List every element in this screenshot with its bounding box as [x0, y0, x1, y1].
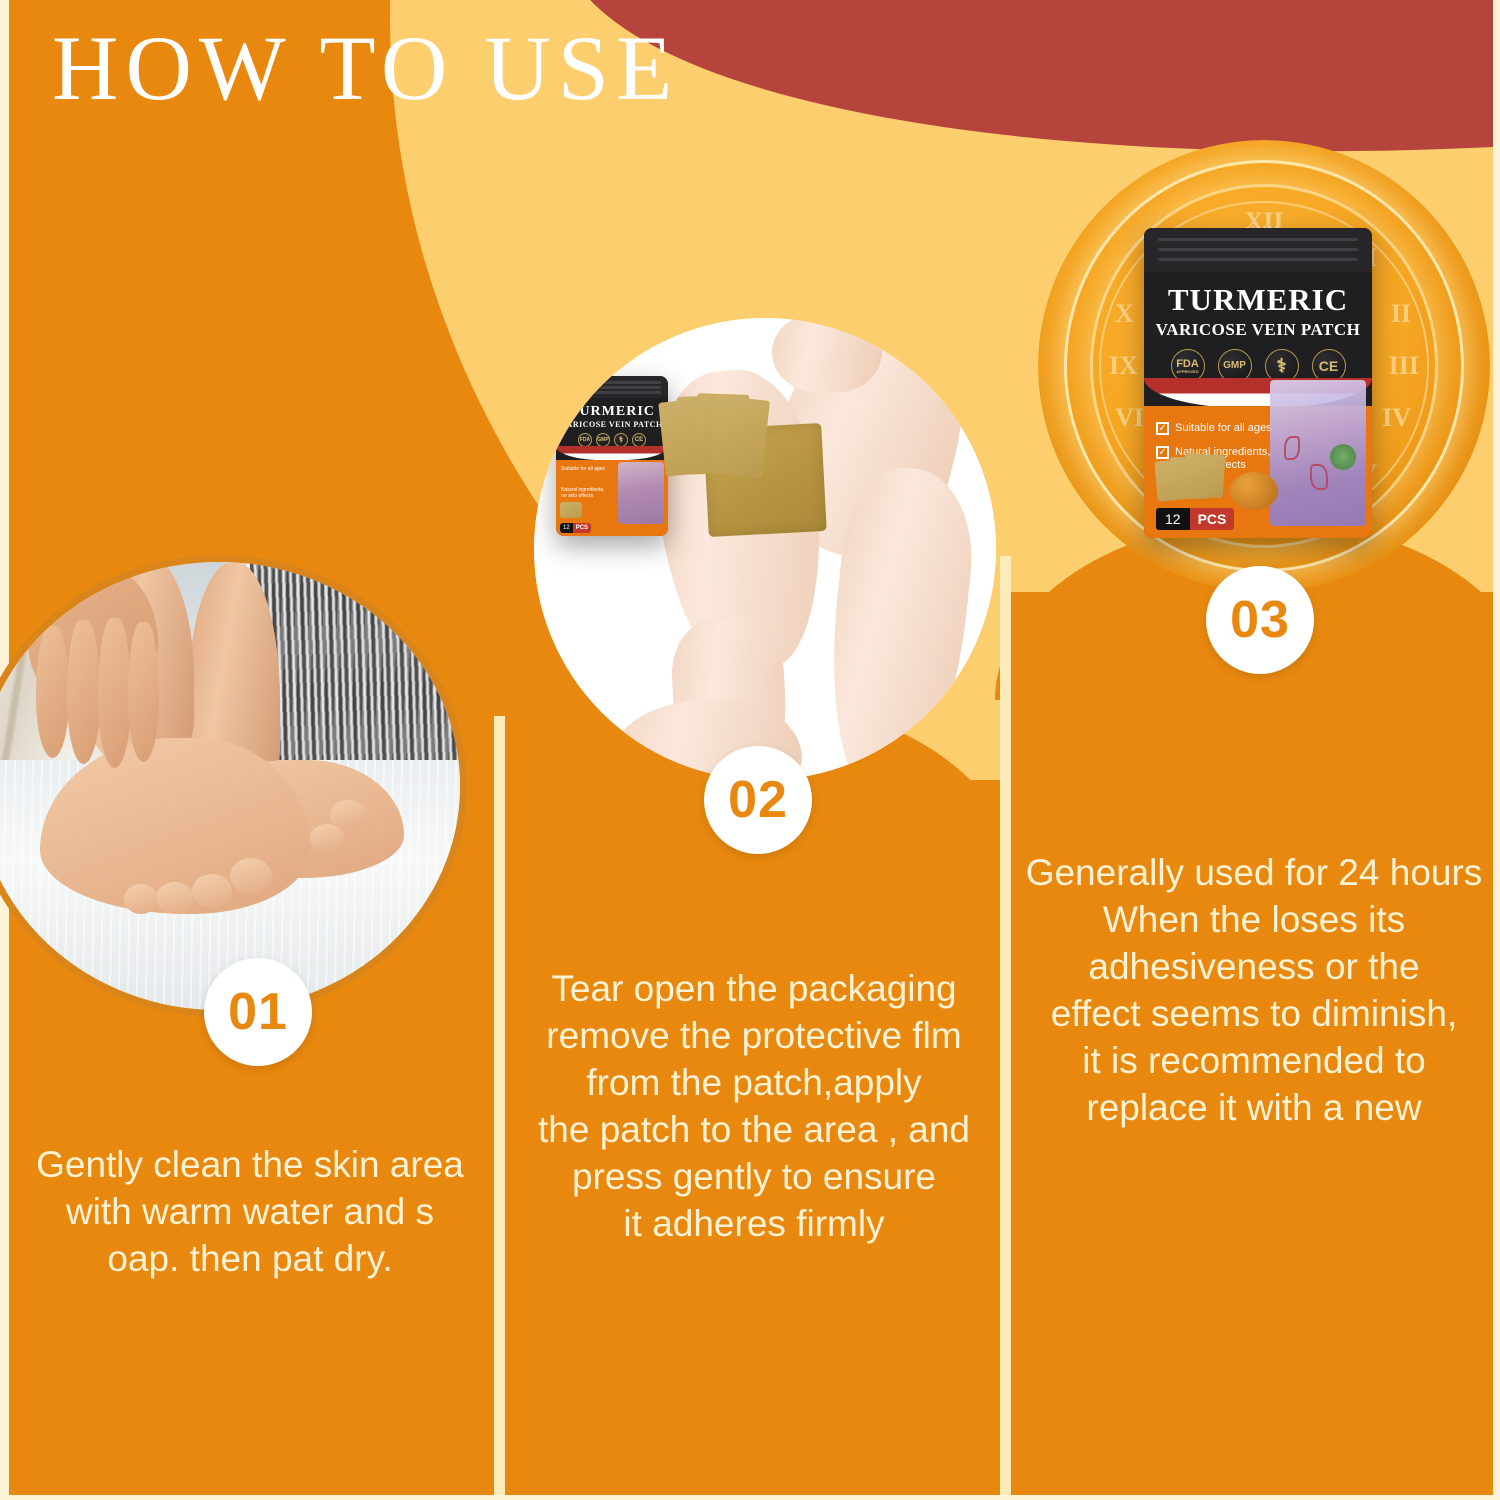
seal-fda-label: FDA	[1176, 359, 1199, 370]
seal-fda-icon: FDA	[578, 433, 592, 447]
hand-on-knee	[772, 318, 882, 392]
mini-pcs-count: 12	[560, 523, 573, 533]
front-toe-3	[156, 882, 194, 914]
step-badge-3-number: 03	[1230, 590, 1290, 650]
mini-pcs-badge: 12 PCS	[560, 523, 591, 533]
mini-package-lower: Suitable for all ages Natural ingredient…	[556, 460, 668, 536]
mini-patch-stack	[560, 502, 586, 520]
step-2-photo: TURMERIC VARICOSE VEIN PATCH FDA GMP ⚕ C…	[534, 318, 996, 780]
back-toe-2	[310, 824, 344, 852]
column-divider-1	[494, 716, 505, 1500]
page-title: HOW TO USE	[52, 22, 679, 114]
mini-package-title: TURMERIC	[556, 404, 668, 420]
mini-bullet-1: Suitable for all ages	[561, 466, 605, 473]
step-3-caption: Generally used for 24 hours When the los…	[1012, 850, 1496, 1132]
finger-3	[98, 618, 131, 768]
mini-package-seal-strip	[556, 376, 668, 398]
finger-1	[36, 626, 69, 758]
step-badge-2: 02	[704, 746, 812, 854]
package-subtitle: VARICOSE VEIN PATCH	[1144, 320, 1372, 340]
mini-vein-illustration	[618, 462, 664, 524]
turmeric-root-illustration	[1230, 472, 1278, 510]
package-seal-strip	[1144, 228, 1372, 272]
step-1-photo	[0, 562, 460, 1010]
pcs-count: 12	[1156, 508, 1190, 530]
pcs-unit: PCS	[1190, 508, 1235, 530]
poster-bottom-edge	[0, 1495, 1500, 1500]
front-toe-1	[230, 858, 272, 894]
step-1-caption: Gently clean the skin area with warm wat…	[8, 1142, 492, 1283]
step-badge-3: 03	[1206, 566, 1314, 674]
mini-package-subtitle: VARICOSE VEIN PATCH	[556, 420, 668, 429]
seal-caduceus-icon: ⚕	[614, 433, 628, 447]
mini-package: TURMERIC VARICOSE VEIN PATCH FDA GMP ⚕ C…	[556, 376, 668, 536]
seal-ce-icon: CE	[632, 433, 646, 447]
seal-gmp-icon: GMP	[596, 433, 610, 447]
step-badge-1: 01	[204, 958, 312, 1066]
step-badge-2-number: 02	[728, 770, 788, 830]
finger-4	[128, 622, 159, 762]
product-package: TURMERIC VARICOSE VEIN PATCH FDA APPROVE…	[1144, 228, 1372, 538]
package-bullet-1-text: Suitable for all ages	[1175, 422, 1272, 434]
mini-pcs-unit: PCS	[573, 523, 591, 533]
patch-sheets-illustration	[1156, 454, 1234, 502]
step-2-caption: Tear open the packaging remove the prote…	[512, 966, 996, 1248]
loose-patch-fan	[662, 394, 792, 524]
package-title: TURMERIC	[1144, 282, 1372, 318]
package-lower-panel: ✓ Suitable for all ages ✓ Natural ingred…	[1144, 406, 1372, 538]
mini-package-wave	[556, 446, 668, 460]
step-badge-1-number: 01	[228, 982, 288, 1042]
infographic-poster: HOW TO USE 01 Gently clean the skin area…	[0, 0, 1500, 1500]
seal-fda-sublabel: APPROVED	[1176, 370, 1198, 374]
package-bullet-1: ✓ Suitable for all ages	[1156, 422, 1272, 435]
step-3-photo: XII III VI IX I II IV V VII VIII X XI TU…	[1038, 140, 1490, 592]
poster-right-edge	[1493, 0, 1500, 1500]
finger-2	[67, 620, 100, 764]
front-toe-4	[124, 884, 158, 914]
mini-package-seals: FDA GMP ⚕ CE	[556, 433, 668, 447]
front-toe-2	[192, 874, 232, 908]
pcs-badge: 12 PCS	[1156, 508, 1234, 530]
column-divider-2	[1000, 556, 1011, 1500]
vein-illustration	[1270, 380, 1366, 526]
mini-bullet-2: Natural ingredients, no sido effects	[561, 487, 604, 500]
checkbox-icon: ✓	[1156, 422, 1169, 435]
